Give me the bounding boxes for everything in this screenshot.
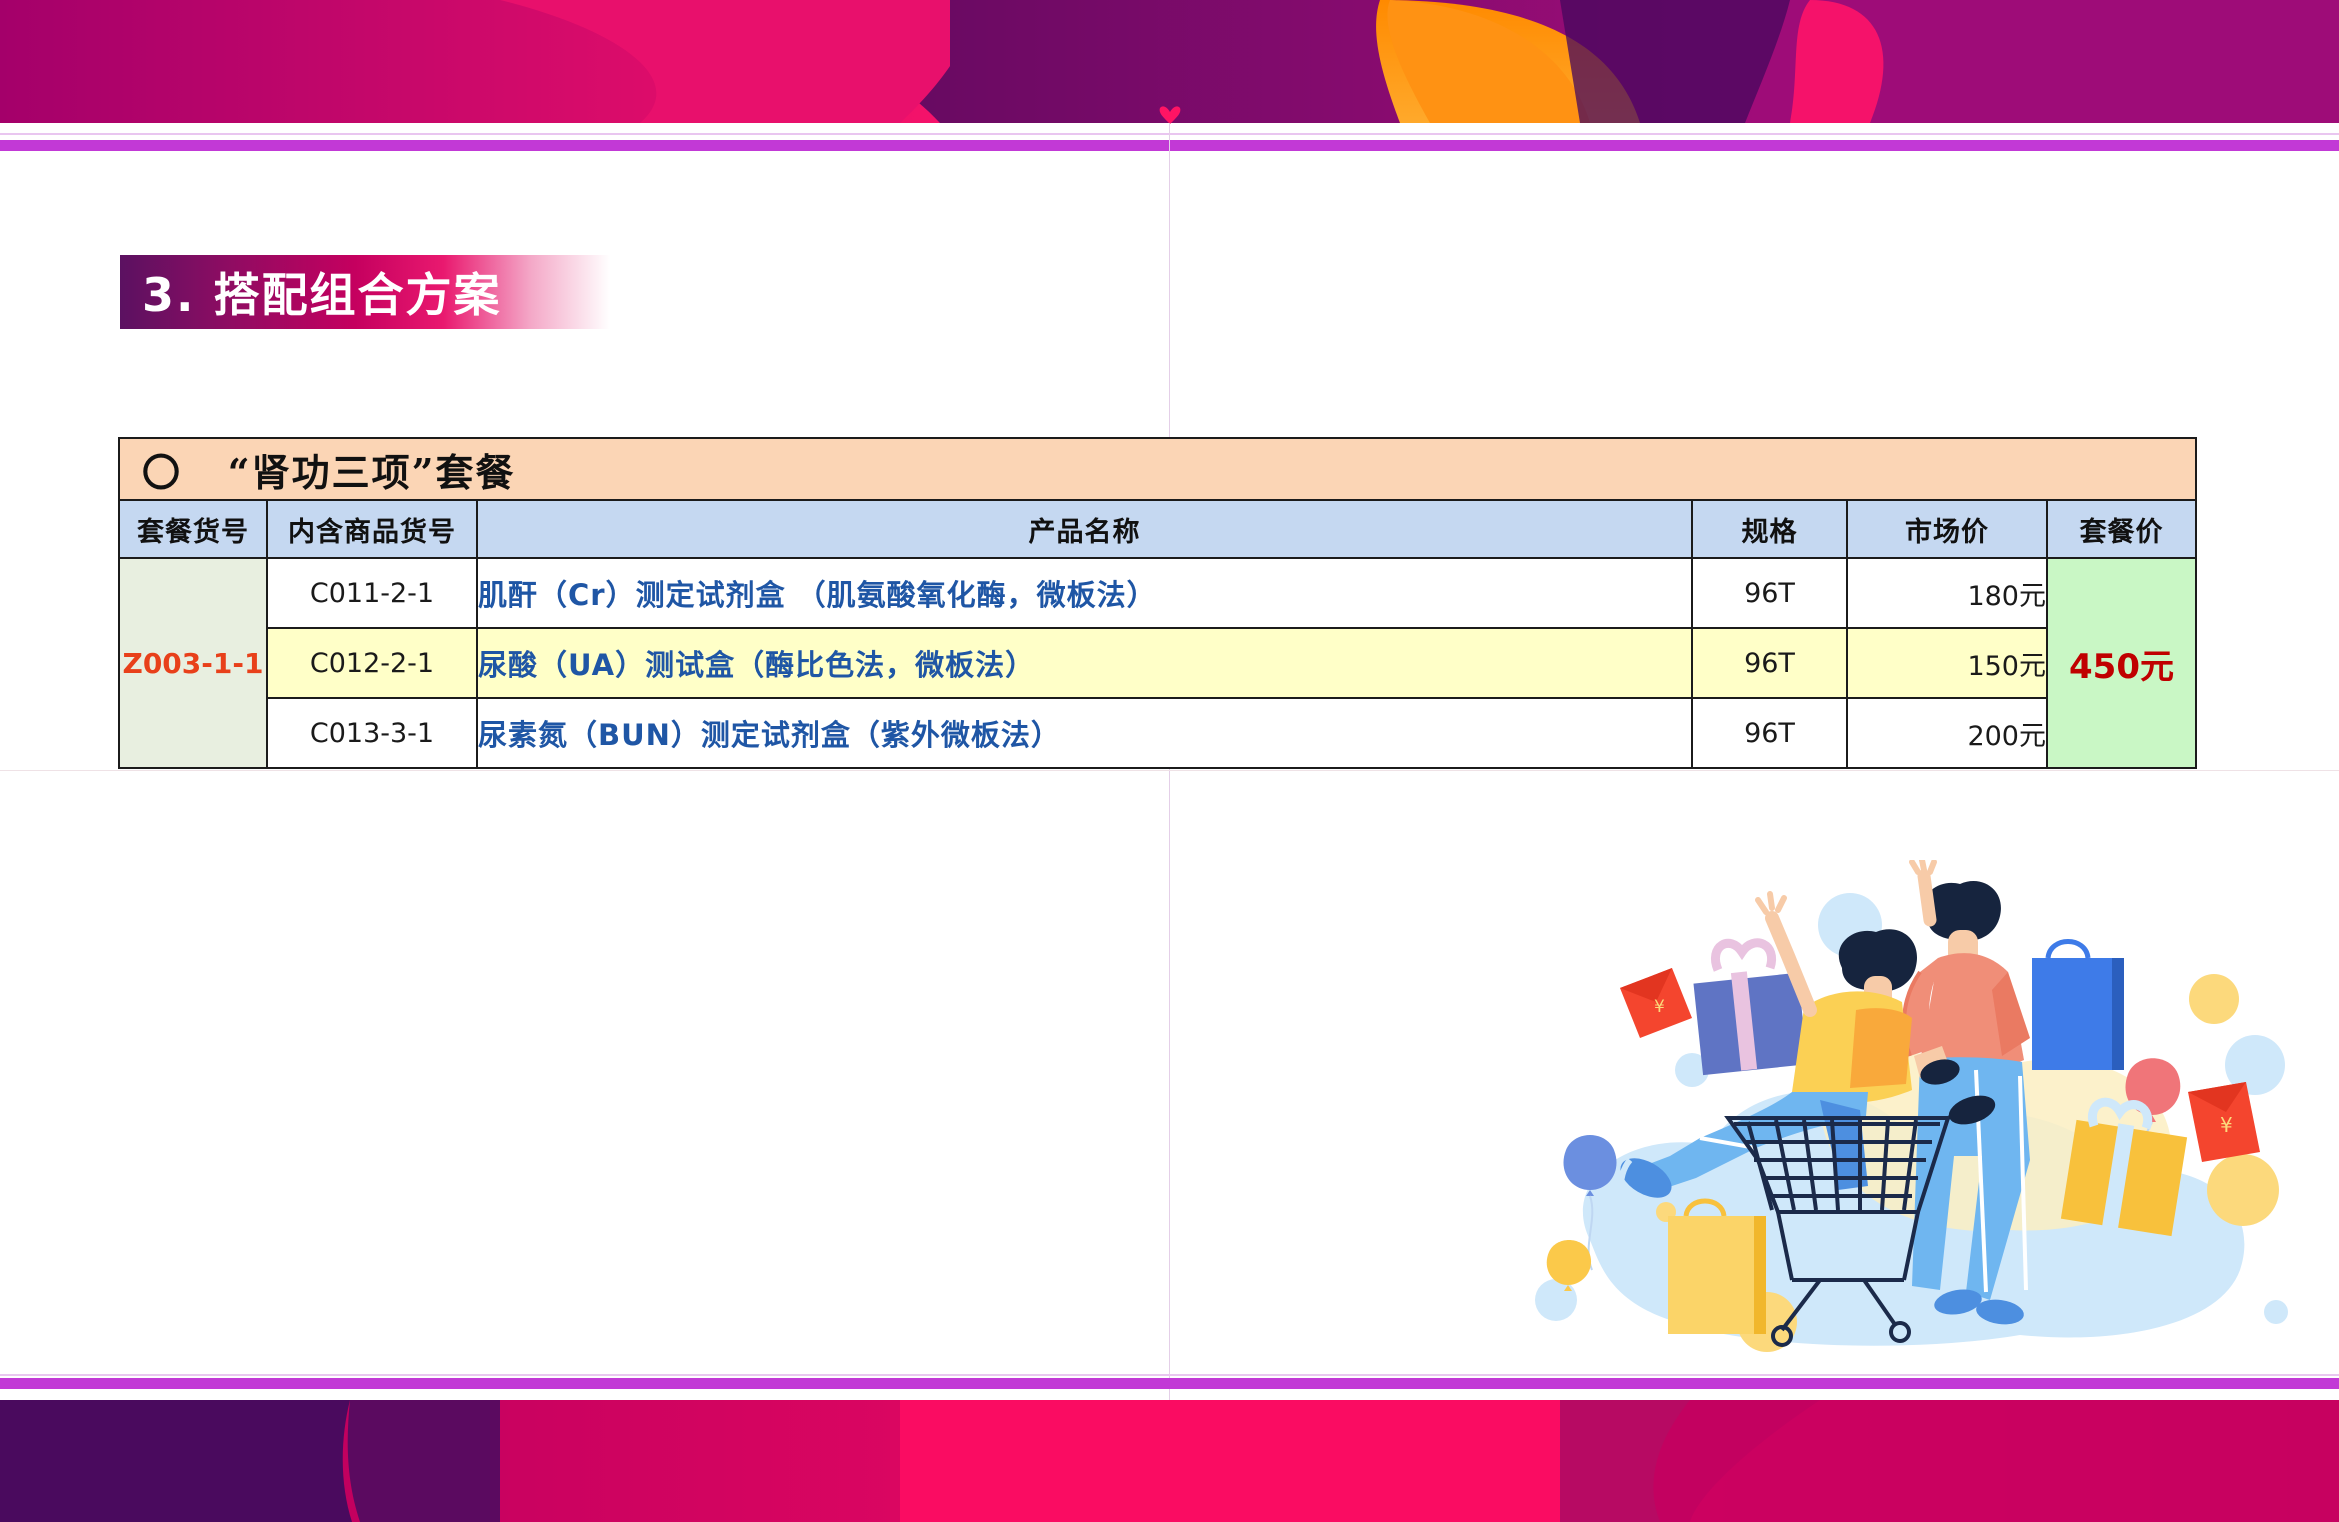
top-decorative-banner xyxy=(0,0,2339,123)
product-name-cell: 尿酸（UA）测试盒（酶比色法，微板法） xyxy=(477,628,1692,698)
table-row: C012-2-1 尿酸（UA）测试盒（酶比色法，微板法） 96T 150元 xyxy=(119,628,2196,698)
red-envelope-left: ¥ xyxy=(1620,968,1692,1038)
spec-cell: 96T xyxy=(1692,698,1847,768)
banner-circle-mark: 〇 xyxy=(142,450,182,495)
table-row: C013-3-1 尿素氮（BUN）测定试剂盒（紫外微板法） 96T 200元 xyxy=(119,698,2196,768)
combination-package-table: 〇 “肾功三项”套餐 套餐货号 内含商品货号 产品名称 规格 市场价 套餐价 Z… xyxy=(118,437,2197,769)
column-header-market-price: 市场价 xyxy=(1847,500,2047,558)
product-name-cell: 肌酐（Cr）测定试剂盒 （肌氨酸氧化酶，微板法） xyxy=(477,558,1692,628)
bottom-decorative-banner xyxy=(0,1400,2339,1522)
shopping-bag-yellow xyxy=(1668,1201,1766,1334)
shopping-couple-illustration: ¥ ¥ xyxy=(1520,860,2330,1360)
table-row: Z003-1-1 C011-2-1 肌酐（Cr）测定试剂盒 （肌氨酸氧化酶，微板… xyxy=(119,558,2196,628)
bottom-purple-rule xyxy=(0,1378,2339,1389)
market-price-cell: 200元 xyxy=(1847,698,2047,768)
bundle-price-cell: 450元 xyxy=(2047,558,2196,768)
svg-text:¥: ¥ xyxy=(1654,997,1665,1017)
spec-cell: 96T xyxy=(1692,558,1847,628)
column-header-item-sku: 内含商品货号 xyxy=(267,500,477,558)
table-header-row: 套餐货号 内含商品货号 产品名称 规格 市场价 套餐价 xyxy=(119,500,2196,558)
column-header-bundle-price: 套餐价 xyxy=(2047,500,2196,558)
product-name-cell: 尿素氮（BUN）测定试剂盒（紫外微板法） xyxy=(477,698,1692,768)
item-sku-cell: C011-2-1 xyxy=(267,558,477,628)
package-sku-cell: Z003-1-1 xyxy=(119,558,267,768)
spec-cell: 96T xyxy=(1692,628,1847,698)
bottom-hairline-divider xyxy=(0,1374,2339,1376)
market-price-cell: 150元 xyxy=(1847,628,2047,698)
heart-marker-icon xyxy=(1158,106,1182,124)
table-banner-row: 〇 “肾功三项”套餐 xyxy=(119,438,2196,500)
shopping-bag-blue xyxy=(2032,942,2124,1071)
top-banner-graphic xyxy=(0,0,2339,123)
section-title-text: 3. 搭配组合方案 xyxy=(142,259,502,325)
item-sku-cell: C013-3-1 xyxy=(267,698,477,768)
horizontal-guide-line xyxy=(0,770,2339,771)
item-sku-cell: C012-2-1 xyxy=(267,628,477,698)
column-header-product-name: 产品名称 xyxy=(477,500,1692,558)
illustration-graphic: ¥ ¥ xyxy=(1520,860,2330,1360)
package-banner-cell: 〇 “肾功三项”套餐 xyxy=(119,438,2196,500)
svg-text:¥: ¥ xyxy=(2220,1113,2233,1137)
section-title-banner: 3. 搭配组合方案 xyxy=(120,255,610,329)
market-price-cell: 180元 xyxy=(1847,558,2047,628)
bottom-banner-graphic xyxy=(0,1400,2339,1522)
column-header-package-sku: 套餐货号 xyxy=(119,500,267,558)
banner-title-text: “肾功三项”套餐 xyxy=(228,450,516,495)
column-header-spec: 规格 xyxy=(1692,500,1847,558)
